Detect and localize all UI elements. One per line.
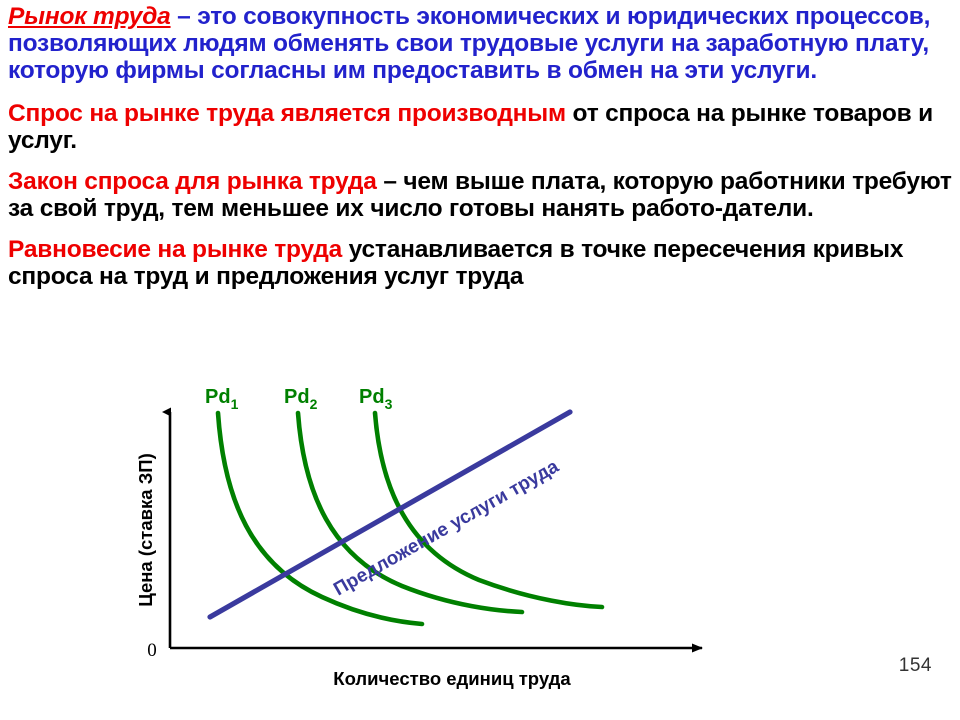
slide-root: Рынок труда – это совокупность экономиче… [0, 0, 960, 720]
axis-origin-label: 0 [147, 640, 157, 661]
demand-label-pd3: Pd3 [359, 386, 393, 412]
paragraph-definition: Рынок труда – это совокупность экономиче… [8, 4, 952, 85]
term-labor-market: Рынок труда [8, 3, 171, 30]
demand-label-pd2: Pd2 [284, 386, 318, 412]
text-content: Рынок труда – это совокупность экономиче… [8, 4, 952, 304]
page-number: 154 [899, 655, 932, 677]
term-equilibrium: Равновесие на рынке труда [8, 236, 342, 263]
y-axis-label: Цена (ставка ЗП) [135, 453, 156, 607]
x-axis-label: Количество единиц труда [333, 668, 571, 689]
term-derived-demand: Спрос на рынке труда является производны… [8, 100, 566, 127]
term-law-of-demand: Закон спроса для рынка труда [8, 168, 377, 195]
paragraph-equilibrium: Равновесие на рынке труда устанавливаетс… [8, 237, 952, 291]
demand-label-pd1: Pd1 [205, 386, 239, 412]
labor-market-chart: 0 Цена (ставка ЗП) Количество единиц тру… [0, 360, 960, 720]
supply-curve [210, 412, 570, 617]
paragraph-derived-demand: Спрос на рынке труда является производны… [8, 101, 952, 155]
paragraph-law-of-demand: Закон спроса для рынка труда – чем выше … [8, 169, 952, 223]
